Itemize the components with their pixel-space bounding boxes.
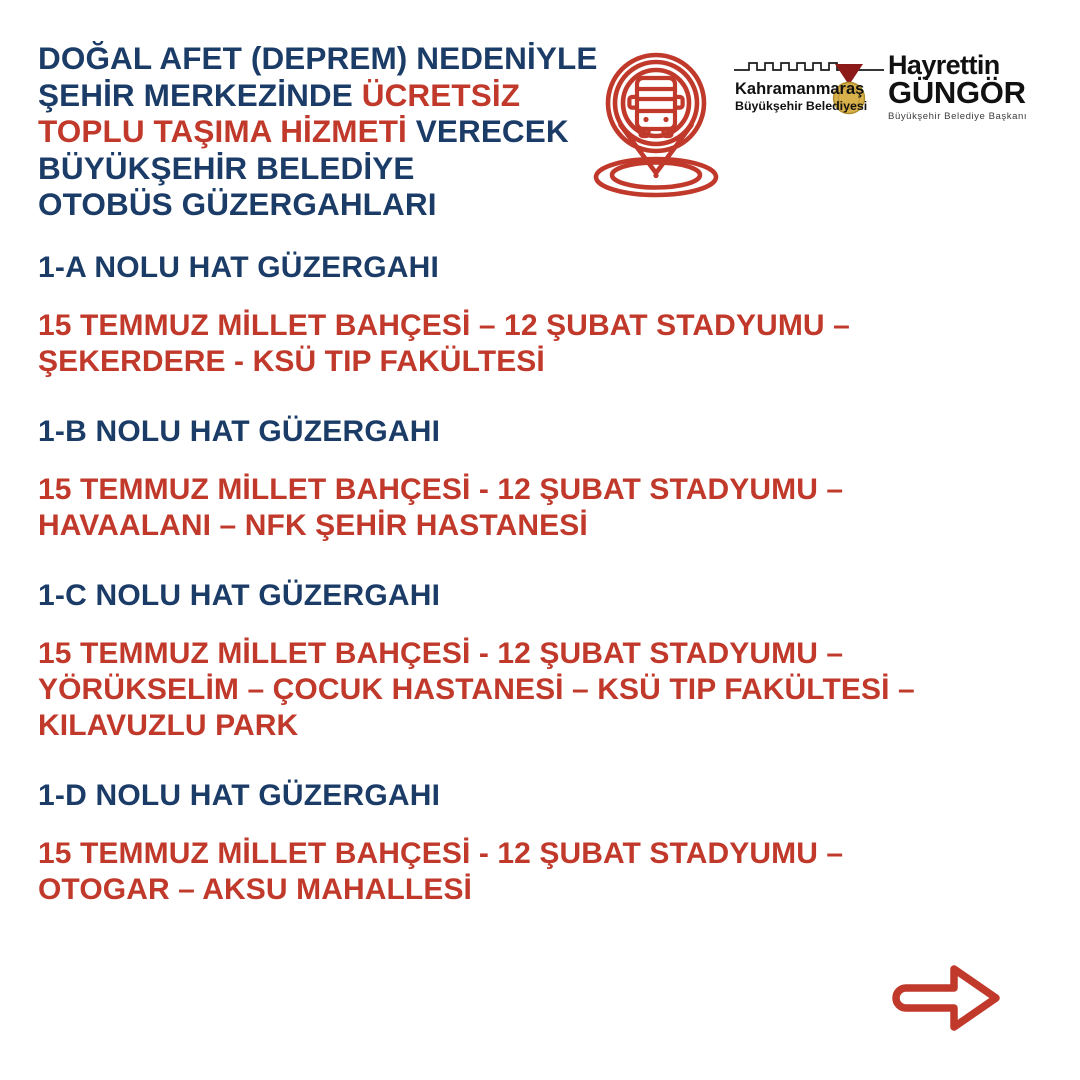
- route-path-1c: 15 TEMMUZ MİLLET BAHÇESİ - 12 ŞUBAT STAD…: [0, 636, 1058, 744]
- headline-line-2-navy: ŞEHİR MERKEZİNDE: [38, 77, 362, 113]
- kahramanmaras-municipality-logo: Kahramanmaraş Büyükşehir Belediyesi: [733, 54, 885, 122]
- route-title-1c: 1-C NOLU HAT GÜZERGAHI: [0, 578, 1080, 614]
- bus-location-pin-icon: [592, 47, 720, 199]
- headline-line-3-navy: VERECEK: [407, 113, 569, 149]
- svg-text:Kahramanmaraş: Kahramanmaraş: [735, 80, 864, 98]
- headline: DOĞAL AFET (DEPREM) NEDENİYLE ŞEHİR MERK…: [38, 40, 598, 223]
- route-path-1b: 15 TEMMUZ MİLLET BAHÇESİ - 12 ŞUBAT STAD…: [0, 472, 1058, 544]
- mayor-role: Büyükşehir Belediye Başkanı: [888, 108, 1028, 123]
- route-path-line: 15 TEMMUZ MİLLET BAHÇESİ - 12 ŞUBAT STAD…: [38, 636, 1058, 672]
- arrow-right-icon[interactable]: [892, 962, 1002, 1034]
- route-block-1d: 1-D NOLU HAT GÜZERGAHI 15 TEMMUZ MİLLET …: [0, 778, 1080, 908]
- mayor-last-name: GÜNGÖR: [888, 78, 1028, 108]
- route-title-1b: 1-B NOLU HAT GÜZERGAHI: [0, 414, 1080, 450]
- mayor-logo: Hayrettin GÜNGÖR Büyükşehir Belediye Baş…: [888, 52, 1028, 122]
- route-block-1c: 1-C NOLU HAT GÜZERGAHI 15 TEMMUZ MİLLET …: [0, 578, 1080, 744]
- route-title-1d: 1-D NOLU HAT GÜZERGAHI: [0, 778, 1080, 814]
- headline-line-2: ŞEHİR MERKEZİNDE ÜCRETSİZ: [38, 77, 598, 114]
- route-path-line: ŞEKERDERE - KSÜ TIP FAKÜLTESİ: [38, 344, 1058, 380]
- headline-line-2-red: ÜCRETSİZ: [362, 77, 520, 113]
- route-path-1a: 15 TEMMUZ MİLLET BAHÇESİ – 12 ŞUBAT STAD…: [0, 308, 1058, 380]
- poster-canvas: DOĞAL AFET (DEPREM) NEDENİYLE ŞEHİR MERK…: [0, 0, 1080, 1080]
- route-title-1a: 1-A NOLU HAT GÜZERGAHI: [0, 250, 1080, 286]
- route-path-line: 15 TEMMUZ MİLLET BAHÇESİ - 12 ŞUBAT STAD…: [38, 472, 1058, 508]
- poster-header: DOĞAL AFET (DEPREM) NEDENİYLE ŞEHİR MERK…: [0, 0, 1080, 250]
- headline-line-4: BÜYÜKŞEHİR BELEDİYE: [38, 150, 598, 187]
- headline-line-1: DOĞAL AFET (DEPREM) NEDENİYLE: [38, 40, 598, 77]
- route-path-line: 15 TEMMUZ MİLLET BAHÇESİ - 12 ŞUBAT STAD…: [38, 836, 1058, 872]
- headline-line-3-red: TOPLU TAŞIMA HİZMETİ: [38, 113, 407, 149]
- route-block-1b: 1-B NOLU HAT GÜZERGAHI 15 TEMMUZ MİLLET …: [0, 414, 1080, 544]
- headline-line-3: TOPLU TAŞIMA HİZMETİ VERECEK: [38, 113, 598, 150]
- route-path-1d: 15 TEMMUZ MİLLET BAHÇESİ - 12 ŞUBAT STAD…: [0, 836, 1058, 908]
- route-path-line: HAVAALANI – NFK ŞEHİR HASTANESİ: [38, 508, 1058, 544]
- route-path-line: OTOGAR – AKSU MAHALLESİ: [38, 872, 1058, 908]
- headline-line-5: OTOBÜS GÜZERGAHLARI: [38, 186, 598, 223]
- route-list: 1-A NOLU HAT GÜZERGAHI 15 TEMMUZ MİLLET …: [0, 250, 1080, 908]
- route-path-line: KILAVUZLU PARK: [38, 708, 1058, 744]
- route-block-1a: 1-A NOLU HAT GÜZERGAHI 15 TEMMUZ MİLLET …: [0, 250, 1080, 380]
- svg-text:Büyükşehir Belediyesi: Büyükşehir Belediyesi: [735, 99, 867, 113]
- route-path-line: 15 TEMMUZ MİLLET BAHÇESİ – 12 ŞUBAT STAD…: [38, 308, 1058, 344]
- route-path-line: YÖRÜKSELİM – ÇOCUK HASTANESİ – KSÜ TIP F…: [38, 672, 1058, 708]
